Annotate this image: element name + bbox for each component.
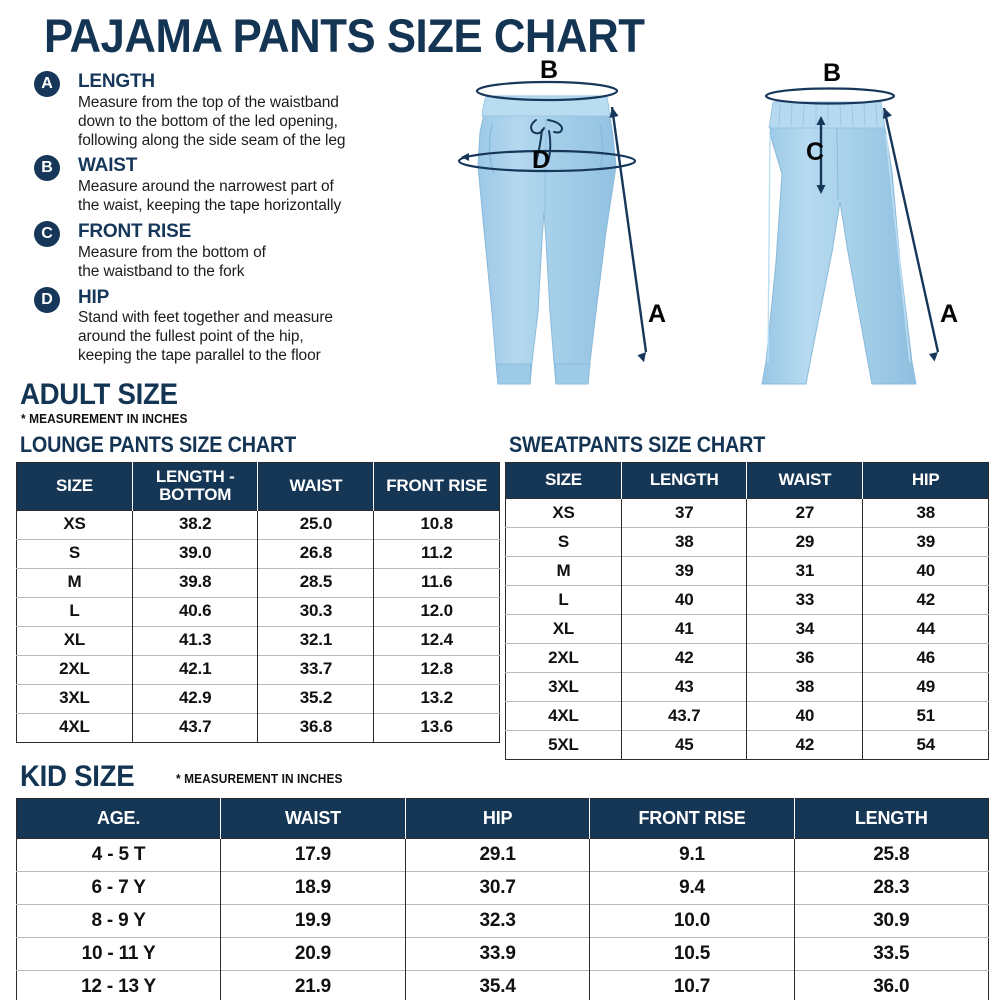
cell-value: 26.8 (258, 539, 374, 568)
table-row: XS372738 (506, 499, 989, 528)
adult-size-note: * MEASUREMENT IN INCHES (21, 412, 187, 426)
sweatpants-size-table: SIZE LENGTH WAIST HIP XS372738S382939M39… (505, 462, 989, 760)
cell-value: 10.8 (374, 510, 500, 539)
legend-desc-hip: Stand with feet together and measurearou… (78, 309, 434, 366)
table-row: 10 - 11 Y20.933.910.533.5 (17, 938, 989, 971)
kid-size-heading: KID SIZE (20, 760, 134, 794)
cell-size: 3XL (506, 673, 622, 702)
legend-item-length: A LENGTH Measure from the top of the wai… (34, 70, 434, 150)
size-chart-page: PAJAMA PANTS SIZE CHART A LENGTH Measure… (0, 0, 1000, 1000)
cell-value: 25.0 (258, 510, 374, 539)
table-header-row: SIZE LENGTH WAIST HIP (506, 463, 989, 499)
cell-value: 49 (863, 673, 989, 702)
table-row: 3XL42.935.213.2 (17, 684, 500, 713)
cell-size: 2XL (506, 644, 622, 673)
table-row: 5XL454254 (506, 731, 989, 760)
table-row: S382939 (506, 528, 989, 557)
cell-value: 32.1 (258, 626, 374, 655)
cell-value: 39 (863, 528, 989, 557)
table-row: M39.828.511.6 (17, 568, 500, 597)
cell-value: 11.2 (374, 539, 500, 568)
cell-value: 42.1 (132, 655, 258, 684)
table-row: L40.630.312.0 (17, 597, 500, 626)
col-header-front-rise: FRONT RISE (374, 463, 500, 511)
cell-value: 42 (747, 731, 863, 760)
legend-title-length: LENGTH (78, 70, 434, 94)
label-front-rise-c-right: C (806, 140, 824, 165)
cell-value: 40.6 (132, 597, 258, 626)
col-header-waist: WAIST (747, 463, 863, 499)
cell-size: 10 - 11 Y (17, 938, 221, 971)
cell-value: 40 (747, 702, 863, 731)
badge-d-icon: D (34, 287, 60, 313)
col-header-waist: WAIST (221, 799, 406, 839)
cell-size: 4XL (17, 713, 133, 742)
legend-item-front-rise: C FRONT RISE Measure from the bottom oft… (34, 220, 434, 282)
cell-value: 41 (621, 615, 747, 644)
kid-size-table: AGE. WAIST HIP FRONT RISE LENGTH 4 - 5 T… (16, 798, 989, 1000)
cell-value: 38 (621, 528, 747, 557)
cell-value: 36.8 (258, 713, 374, 742)
table-row: 4 - 5 T17.929.19.125.8 (17, 839, 989, 872)
cell-value: 30.7 (405, 872, 590, 905)
table-row: 2XL42.133.712.8 (17, 655, 500, 684)
table-row: XL413444 (506, 615, 989, 644)
badge-a-icon: A (34, 71, 60, 97)
table-row: L403342 (506, 586, 989, 615)
cell-size: 12 - 13 Y (17, 971, 221, 1000)
col-header-length: LENGTH (794, 799, 988, 839)
cell-value: 34 (747, 615, 863, 644)
legend-title-hip: HIP (78, 286, 434, 310)
table-row: XS38.225.010.8 (17, 510, 500, 539)
cell-size: 4XL (506, 702, 622, 731)
cell-size: 2XL (17, 655, 133, 684)
table-row: S39.026.811.2 (17, 539, 500, 568)
cell-value: 21.9 (221, 971, 406, 1000)
cell-value: 39 (621, 557, 747, 586)
cell-value: 42.9 (132, 684, 258, 713)
label-waist-b-right: B (823, 61, 841, 86)
legend-desc-length: Measure from the top of the waistbanddow… (78, 94, 434, 151)
label-length-a-right: A (940, 302, 958, 327)
col-header-age: AGE. (17, 799, 221, 839)
cell-value: 12.4 (374, 626, 500, 655)
cell-value: 13.6 (374, 713, 500, 742)
cell-value: 46 (863, 644, 989, 673)
cell-value: 12.8 (374, 655, 500, 684)
cell-value: 43.7 (621, 702, 747, 731)
table-row: 3XL433849 (506, 673, 989, 702)
legend-desc-waist: Measure around the narrowest part ofthe … (78, 178, 434, 216)
lounge-pants-size-table: SIZE LENGTH -BOTTOM WAIST FRONT RISE XS3… (16, 462, 500, 743)
cell-value: 28.3 (794, 872, 988, 905)
table-header-row: SIZE LENGTH -BOTTOM WAIST FRONT RISE (17, 463, 500, 511)
col-header-length: LENGTH (621, 463, 747, 499)
cell-size: S (506, 528, 622, 557)
table-row: 6 - 7 Y18.930.79.428.3 (17, 872, 989, 905)
legend-desc-front-rise: Measure from the bottom ofthe waistband … (78, 244, 434, 282)
cell-value: 33.5 (794, 938, 988, 971)
cell-value: 54 (863, 731, 989, 760)
cell-value: 40 (863, 557, 989, 586)
col-header-hip: HIP (863, 463, 989, 499)
cell-value: 41.3 (132, 626, 258, 655)
straight-pants-svg (720, 62, 985, 397)
table-row: 8 - 9 Y19.932.310.030.9 (17, 905, 989, 938)
legend-title-front-rise: FRONT RISE (78, 220, 434, 244)
cell-value: 39.0 (132, 539, 258, 568)
sweat-table-body: XS372738S382939M393140L403342XL4134442XL… (506, 499, 989, 760)
cell-value: 10.5 (590, 938, 794, 971)
cell-value: 31 (747, 557, 863, 586)
cell-value: 10.7 (590, 971, 794, 1000)
label-length-a-left: A (648, 302, 666, 327)
cell-value: 28.5 (258, 568, 374, 597)
cell-value: 11.6 (374, 568, 500, 597)
col-header-size: SIZE (17, 463, 133, 511)
col-header-length-bottom: LENGTH -BOTTOM (132, 463, 258, 511)
measurement-legend: A LENGTH Measure from the top of the wai… (34, 70, 434, 370)
adult-size-heading: ADULT SIZE (20, 378, 178, 412)
table-row: 4XL43.736.813.6 (17, 713, 500, 742)
cell-value: 33.7 (258, 655, 374, 684)
lounge-table-body: XS38.225.010.8S39.026.811.2M39.828.511.6… (17, 510, 500, 742)
col-header-waist: WAIST (258, 463, 374, 511)
page-title: PAJAMA PANTS SIZE CHART (44, 8, 644, 63)
cell-size: XS (17, 510, 133, 539)
cell-value: 30.9 (794, 905, 988, 938)
cell-size: L (17, 597, 133, 626)
cell-value: 18.9 (221, 872, 406, 905)
cell-value: 33.9 (405, 938, 590, 971)
cell-value: 43 (621, 673, 747, 702)
cell-size: 3XL (17, 684, 133, 713)
sweat-table-caption: SWEATPANTS SIZE CHART (509, 432, 765, 458)
legend-item-hip: D HIP Stand with feet together and measu… (34, 286, 434, 366)
lounge-table-caption: LOUNGE PANTS SIZE CHART (20, 432, 296, 458)
cell-value: 36.0 (794, 971, 988, 1000)
cell-value: 35.4 (405, 971, 590, 1000)
legend-title-waist: WAIST (78, 154, 434, 178)
cell-value: 9.1 (590, 839, 794, 872)
col-header-hip: HIP (405, 799, 590, 839)
cell-value: 9.4 (590, 872, 794, 905)
cell-value: 38.2 (132, 510, 258, 539)
cell-value: 27 (747, 499, 863, 528)
straight-pants-diagram: B C A (720, 62, 985, 397)
col-header-size: SIZE (506, 463, 622, 499)
cell-size: 8 - 9 Y (17, 905, 221, 938)
table-row: 4XL43.74051 (506, 702, 989, 731)
cell-size: 6 - 7 Y (17, 872, 221, 905)
cell-value: 40 (621, 586, 747, 615)
label-waist-b-left: B (540, 58, 558, 83)
cell-size: XS (506, 499, 622, 528)
badge-c-icon: C (34, 221, 60, 247)
cell-value: 10.0 (590, 905, 794, 938)
jogger-pants-diagram: B D A (430, 62, 700, 397)
cell-value: 42 (863, 586, 989, 615)
cell-value: 25.8 (794, 839, 988, 872)
cell-value: 32.3 (405, 905, 590, 938)
cell-value: 35.2 (258, 684, 374, 713)
cell-value: 39.8 (132, 568, 258, 597)
table-header-row: AGE. WAIST HIP FRONT RISE LENGTH (17, 799, 989, 839)
cell-size: M (506, 557, 622, 586)
kid-size-note: * MEASUREMENT IN INCHES (176, 772, 342, 786)
cell-size: XL (506, 615, 622, 644)
cell-size: M (17, 568, 133, 597)
legend-item-waist: B WAIST Measure around the narrowest par… (34, 154, 434, 216)
cell-value: 37 (621, 499, 747, 528)
badge-b-icon: B (34, 155, 60, 181)
cell-size: 5XL (506, 731, 622, 760)
table-row: 2XL423646 (506, 644, 989, 673)
table-row: XL41.332.112.4 (17, 626, 500, 655)
kid-table-body: 4 - 5 T17.929.19.125.86 - 7 Y18.930.79.4… (17, 839, 989, 1000)
jogger-pants-svg (430, 62, 700, 397)
cell-value: 36 (747, 644, 863, 673)
table-row: 12 - 13 Y21.935.410.736.0 (17, 971, 989, 1000)
cell-value: 20.9 (221, 938, 406, 971)
cell-value: 38 (747, 673, 863, 702)
cell-value: 45 (621, 731, 747, 760)
cell-value: 44 (863, 615, 989, 644)
cell-value: 42 (621, 644, 747, 673)
cell-value: 13.2 (374, 684, 500, 713)
table-row: M393140 (506, 557, 989, 586)
cell-value: 33 (747, 586, 863, 615)
label-hip-d-left: D (532, 148, 550, 173)
cell-value: 17.9 (221, 839, 406, 872)
cell-value: 43.7 (132, 713, 258, 742)
cell-value: 38 (863, 499, 989, 528)
col-header-front-rise: FRONT RISE (590, 799, 794, 839)
cell-size: L (506, 586, 622, 615)
cell-size: 4 - 5 T (17, 839, 221, 872)
cell-size: XL (17, 626, 133, 655)
cell-value: 51 (863, 702, 989, 731)
cell-value: 29.1 (405, 839, 590, 872)
cell-value: 19.9 (221, 905, 406, 938)
pants-illustrations: B D A (420, 62, 1000, 397)
cell-value: 12.0 (374, 597, 500, 626)
cell-size: S (17, 539, 133, 568)
cell-value: 30.3 (258, 597, 374, 626)
cell-value: 29 (747, 528, 863, 557)
